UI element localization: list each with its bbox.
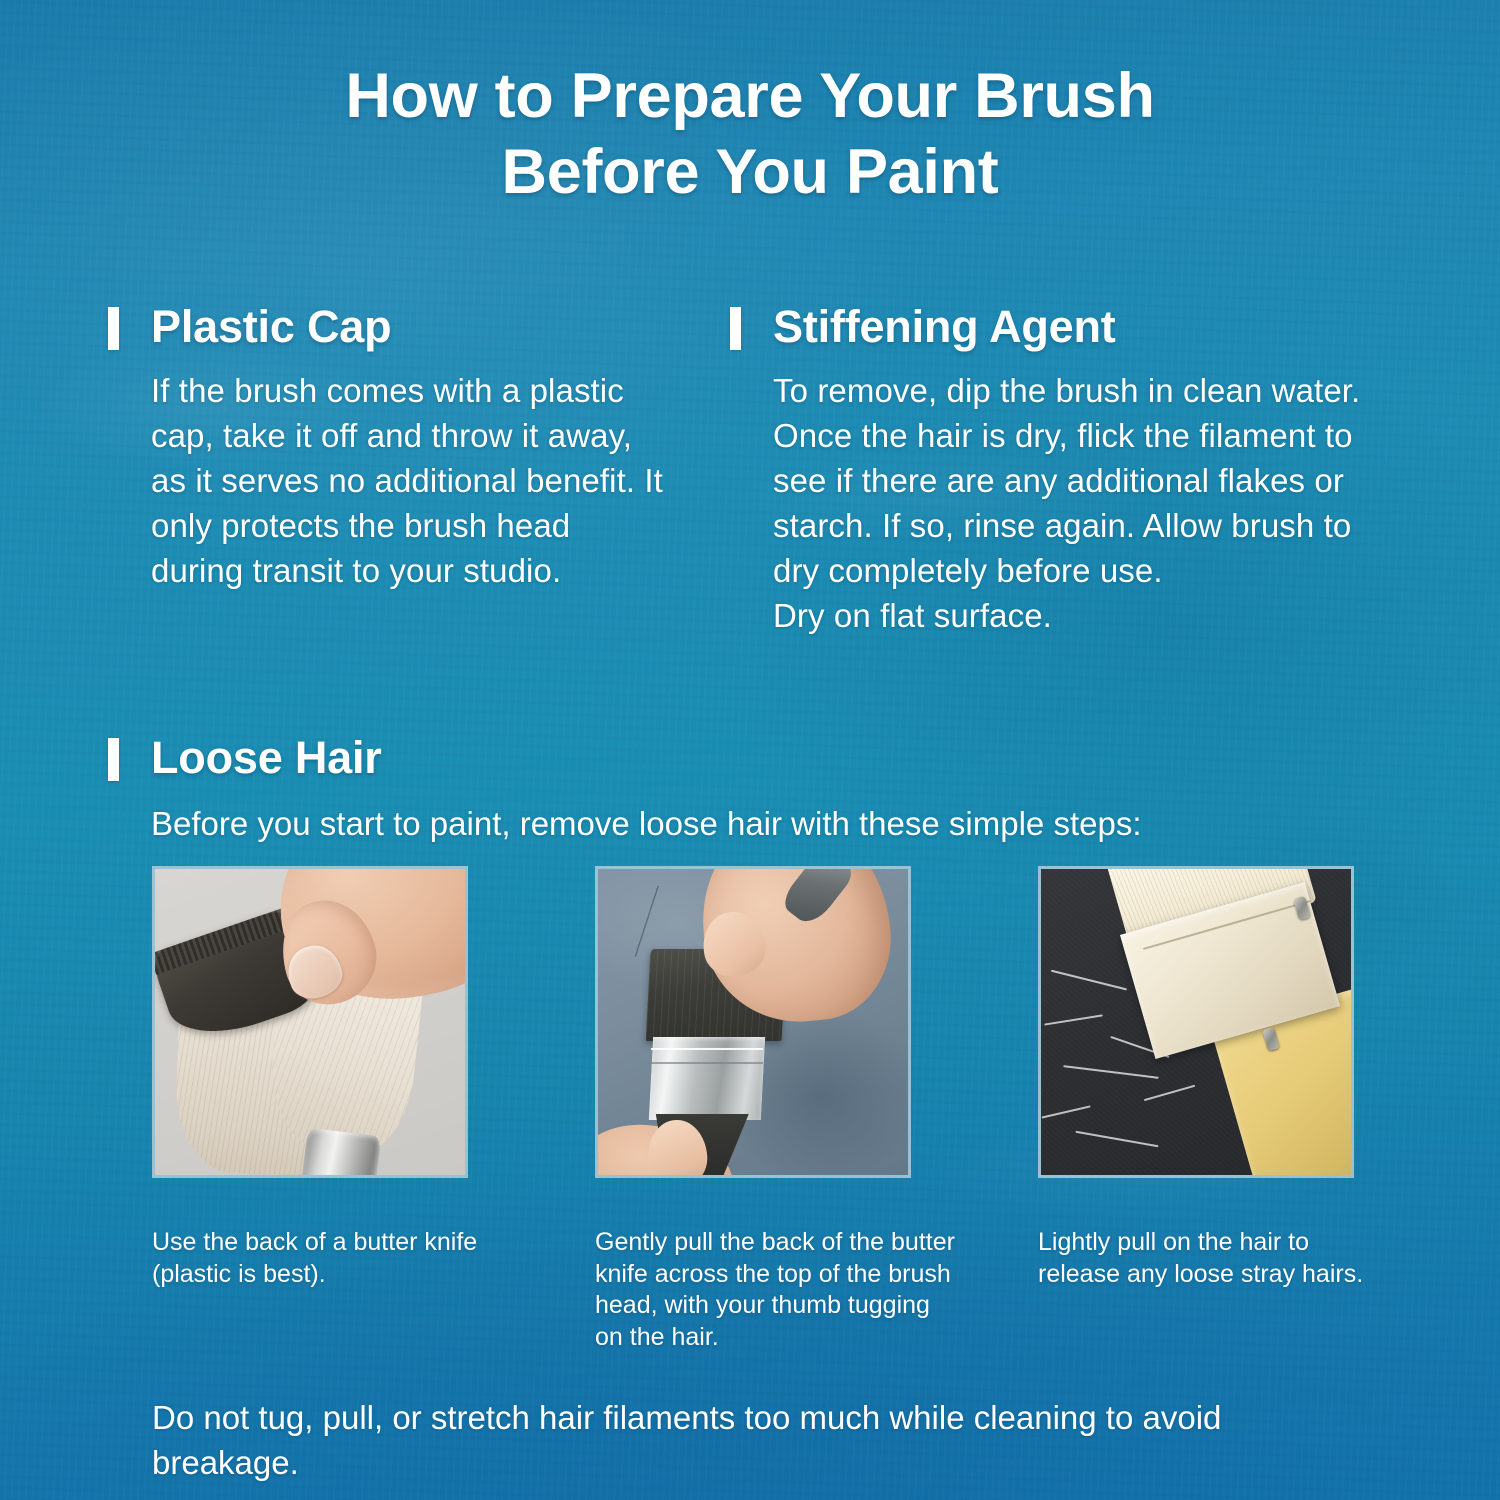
brush-ferrule <box>300 1128 381 1175</box>
section-plastic-cap-body: If the brush comes with a plastic cap, t… <box>151 368 668 593</box>
accent-bar-icon <box>108 738 119 781</box>
section-stiffening-agent: Stiffening Agent To remove, dip the brus… <box>730 302 1370 638</box>
infographic-poster: How to Prepare Your Brush Before You Pai… <box>0 0 1500 1500</box>
ferrule-shadow <box>651 1062 763 1064</box>
step-photo-3 <box>1038 866 1354 1178</box>
section-loose-hair-heading: Loose Hair <box>151 733 382 783</box>
ferrule-highlight <box>651 1048 763 1050</box>
step-caption-3: Lightly pull on the hair to release any … <box>1038 1227 1368 1290</box>
step-caption-2: Gently pull the back of the butter knife… <box>595 1227 955 1353</box>
section-plastic-cap-header: Plastic Cap <box>108 302 668 352</box>
section-stiffening-agent-heading: Stiffening Agent <box>773 302 1116 352</box>
section-loose-hair-header: Loose Hair <box>108 733 1398 783</box>
step-caption-1: Use the back of a butter knife (plastic … <box>152 1227 482 1290</box>
footer-warning-text: Do not tug, pull, or stretch hair filame… <box>152 1395 1372 1485</box>
section-plastic-cap: Plastic Cap If the brush comes with a pl… <box>108 302 668 593</box>
section-loose-hair: Loose Hair Before you start to paint, re… <box>108 733 1398 845</box>
accent-bar-icon <box>108 307 119 350</box>
section-plastic-cap-heading: Plastic Cap <box>151 302 391 352</box>
step-photo-1 <box>152 866 468 1178</box>
page-title: How to Prepare Your Brush Before You Pai… <box>0 58 1500 210</box>
section-stiffening-agent-header: Stiffening Agent <box>730 302 1370 352</box>
accent-bar-icon <box>730 307 741 350</box>
page-title-line-2: Before You Paint <box>0 134 1500 210</box>
step-photo-2 <box>595 866 911 1178</box>
section-loose-hair-intro: Before you start to paint, remove loose … <box>151 802 1398 845</box>
section-stiffening-agent-body: To remove, dip the brush in clean water.… <box>773 368 1370 638</box>
step-photo-strip <box>152 866 1358 1178</box>
page-title-line-1: How to Prepare Your Brush <box>0 58 1500 134</box>
